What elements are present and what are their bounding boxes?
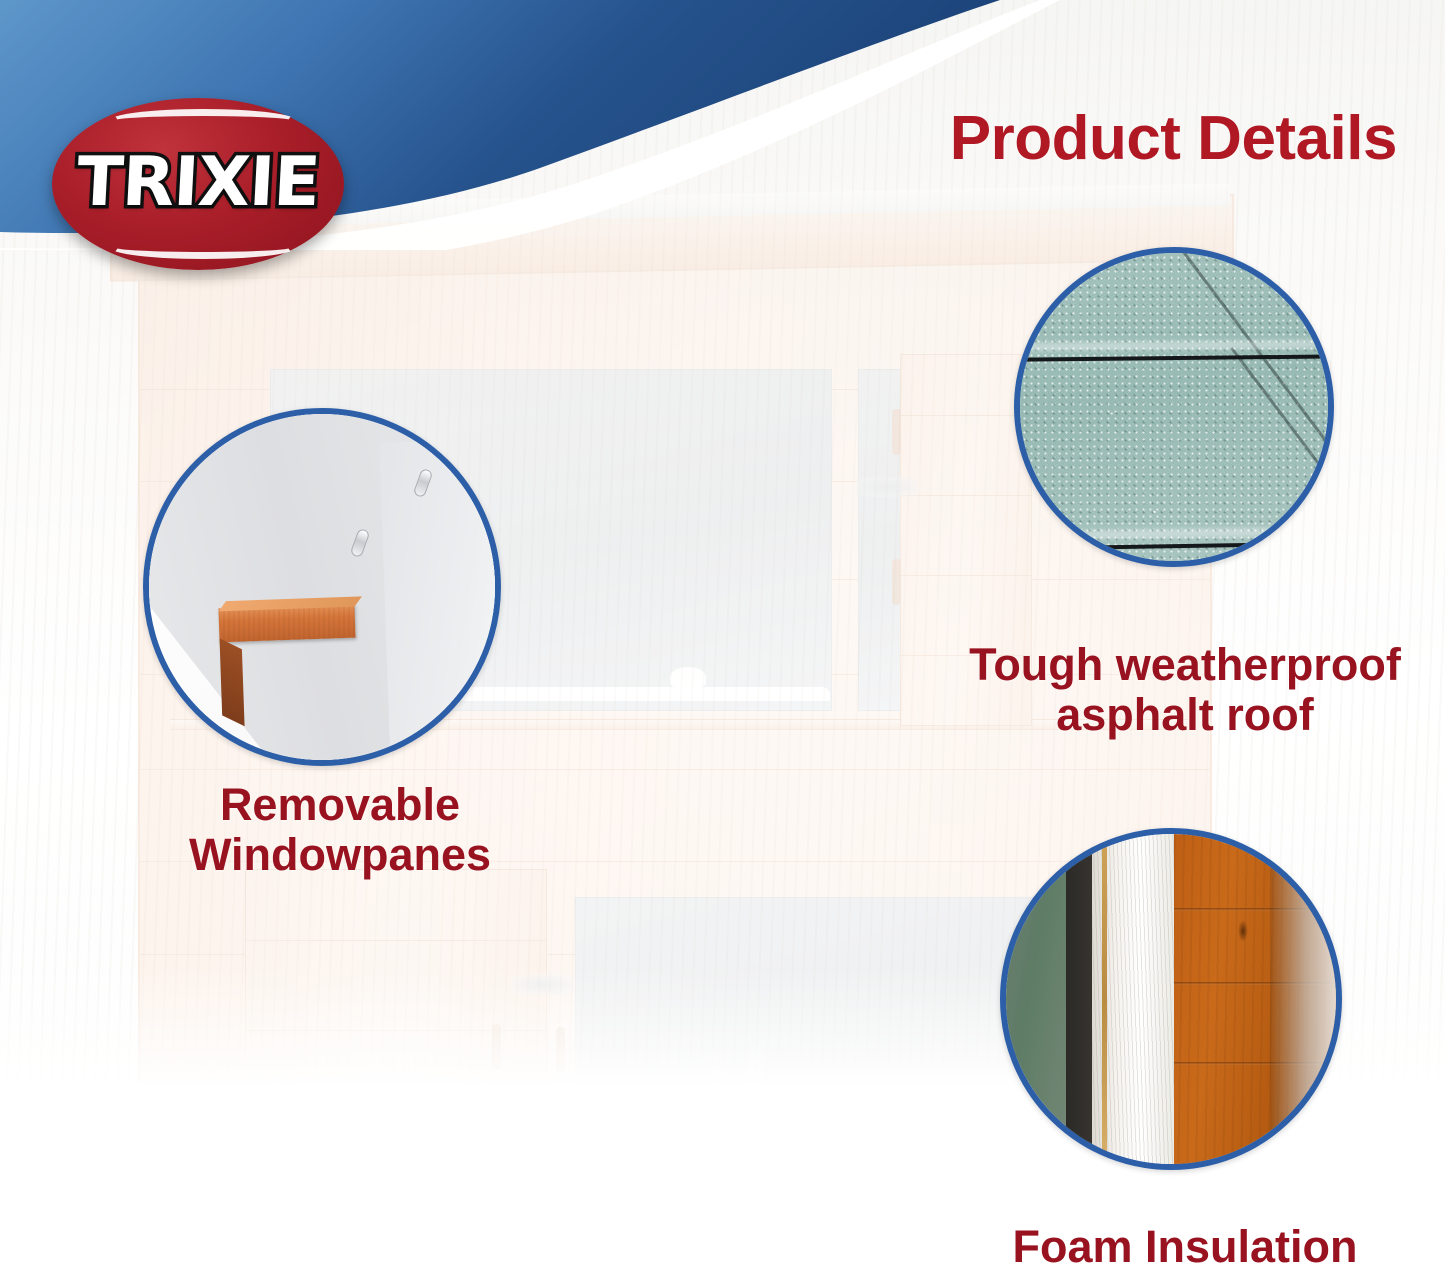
caption-line: Tough weatherproof — [930, 640, 1440, 690]
page-title: Product Details — [950, 103, 1397, 174]
caption-line: asphalt roof — [930, 690, 1440, 740]
shingle-granule-specks — [1020, 253, 1328, 561]
product-details-infographic: TRIXIE Product Details — [0, 0, 1445, 1268]
windowpane-sheet-right-edge — [379, 442, 495, 760]
caption-line: Foam Insulation — [960, 1222, 1410, 1268]
callout-removable-windowpane — [143, 408, 501, 766]
logo-arc-bottom-icon — [110, 236, 295, 259]
trixie-logo: TRIXIE — [52, 98, 344, 270]
hutch-upper-latch — [856, 477, 918, 497]
callout-foam-insulation — [1000, 828, 1342, 1170]
wood-siding-panel — [1174, 834, 1336, 1164]
caption-line: Windowpanes — [130, 830, 550, 880]
caption-foam-insulation: Foam Insulation — [960, 1222, 1410, 1268]
wooden-retaining-strip — [218, 604, 355, 643]
logo-wordmark: TRIXIE — [50, 143, 346, 222]
logo-arc-top-icon — [110, 109, 295, 132]
caption-line: Removable — [130, 780, 550, 830]
caption-removable-windowpanes: Removable Windowpanes — [130, 780, 550, 879]
foam-edge-trim — [1102, 834, 1107, 1164]
caption-asphalt-roof: Tough weatherproof asphalt roof — [930, 640, 1440, 739]
callout-asphalt-roof — [1014, 247, 1334, 567]
